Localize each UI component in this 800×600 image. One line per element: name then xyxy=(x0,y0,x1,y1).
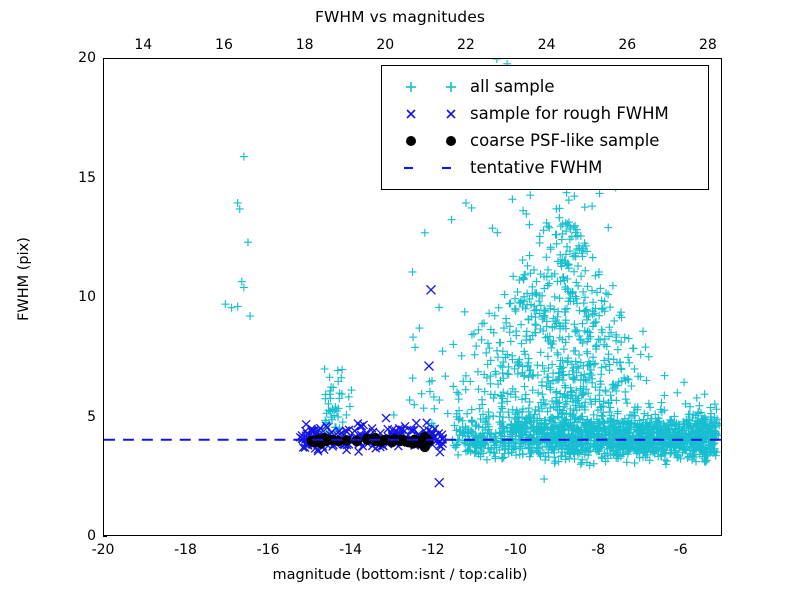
x-axis-label: magnitude (bottom:isnt / top:calib) xyxy=(0,567,800,583)
legend-item-coarse-psf: coarse PSF-like sample xyxy=(392,127,698,154)
x-tick-label-bottom: -10 xyxy=(504,542,527,558)
legend-item-tentative-fwhm: tentative FWHM xyxy=(392,154,698,181)
figure: FWHM vs magnitudes FWHM (pix) magnitude … xyxy=(0,0,800,600)
legend-label-tentative-fwhm: tentative FWHM xyxy=(470,158,602,177)
chart-title: FWHM vs magnitudes xyxy=(0,8,800,26)
legend-marker-cross-icon xyxy=(392,103,470,125)
x-tick-label-top: 22 xyxy=(457,37,475,53)
legend-label-all-sample: all sample xyxy=(470,77,555,96)
x-tick-label-bottom: -16 xyxy=(257,542,280,558)
y-tick-label: 10 xyxy=(78,289,96,305)
legend-label-coarse-psf: coarse PSF-like sample xyxy=(470,131,659,150)
x-tick-label-bottom: -6 xyxy=(674,542,688,558)
legend-marker-dashed-line-icon xyxy=(392,157,470,179)
legend-item-rough-fwhm: sample for rough FWHM xyxy=(392,100,698,127)
x-tick-label-bottom: -20 xyxy=(92,542,115,558)
y-axis-label: FWHM (pix) xyxy=(16,79,32,479)
legend-marker-dot-icon xyxy=(392,130,470,152)
y-tick-label: 20 xyxy=(78,50,96,66)
y-tick-label: 5 xyxy=(87,409,96,425)
y-tick-mark xyxy=(103,536,107,537)
legend-marker-plus-icon xyxy=(392,76,470,98)
x-tick-label-top: 20 xyxy=(376,37,394,53)
x-tick-label-top: 24 xyxy=(538,37,556,53)
x-tick-label-top: 28 xyxy=(699,37,717,53)
legend-item-all-sample: all sample xyxy=(392,73,698,100)
x-tick-label-bottom: -18 xyxy=(174,542,197,558)
x-tick-label-top: 16 xyxy=(215,37,233,53)
x-tick-label-bottom: -8 xyxy=(591,542,605,558)
legend-label-rough-fwhm: sample for rough FWHM xyxy=(470,104,669,123)
x-tick-label-bottom: -14 xyxy=(339,542,362,558)
x-tick-label-bottom: -12 xyxy=(422,542,445,558)
y-tick-label: 15 xyxy=(78,170,96,186)
y-tick-label: 0 xyxy=(87,528,96,544)
x-tick-label-top: 18 xyxy=(296,37,314,53)
legend: all sample sample for rough FWHM coarse … xyxy=(381,65,709,190)
x-tick-label-top: 26 xyxy=(618,37,636,53)
x-tick-label-top: 14 xyxy=(134,37,152,53)
